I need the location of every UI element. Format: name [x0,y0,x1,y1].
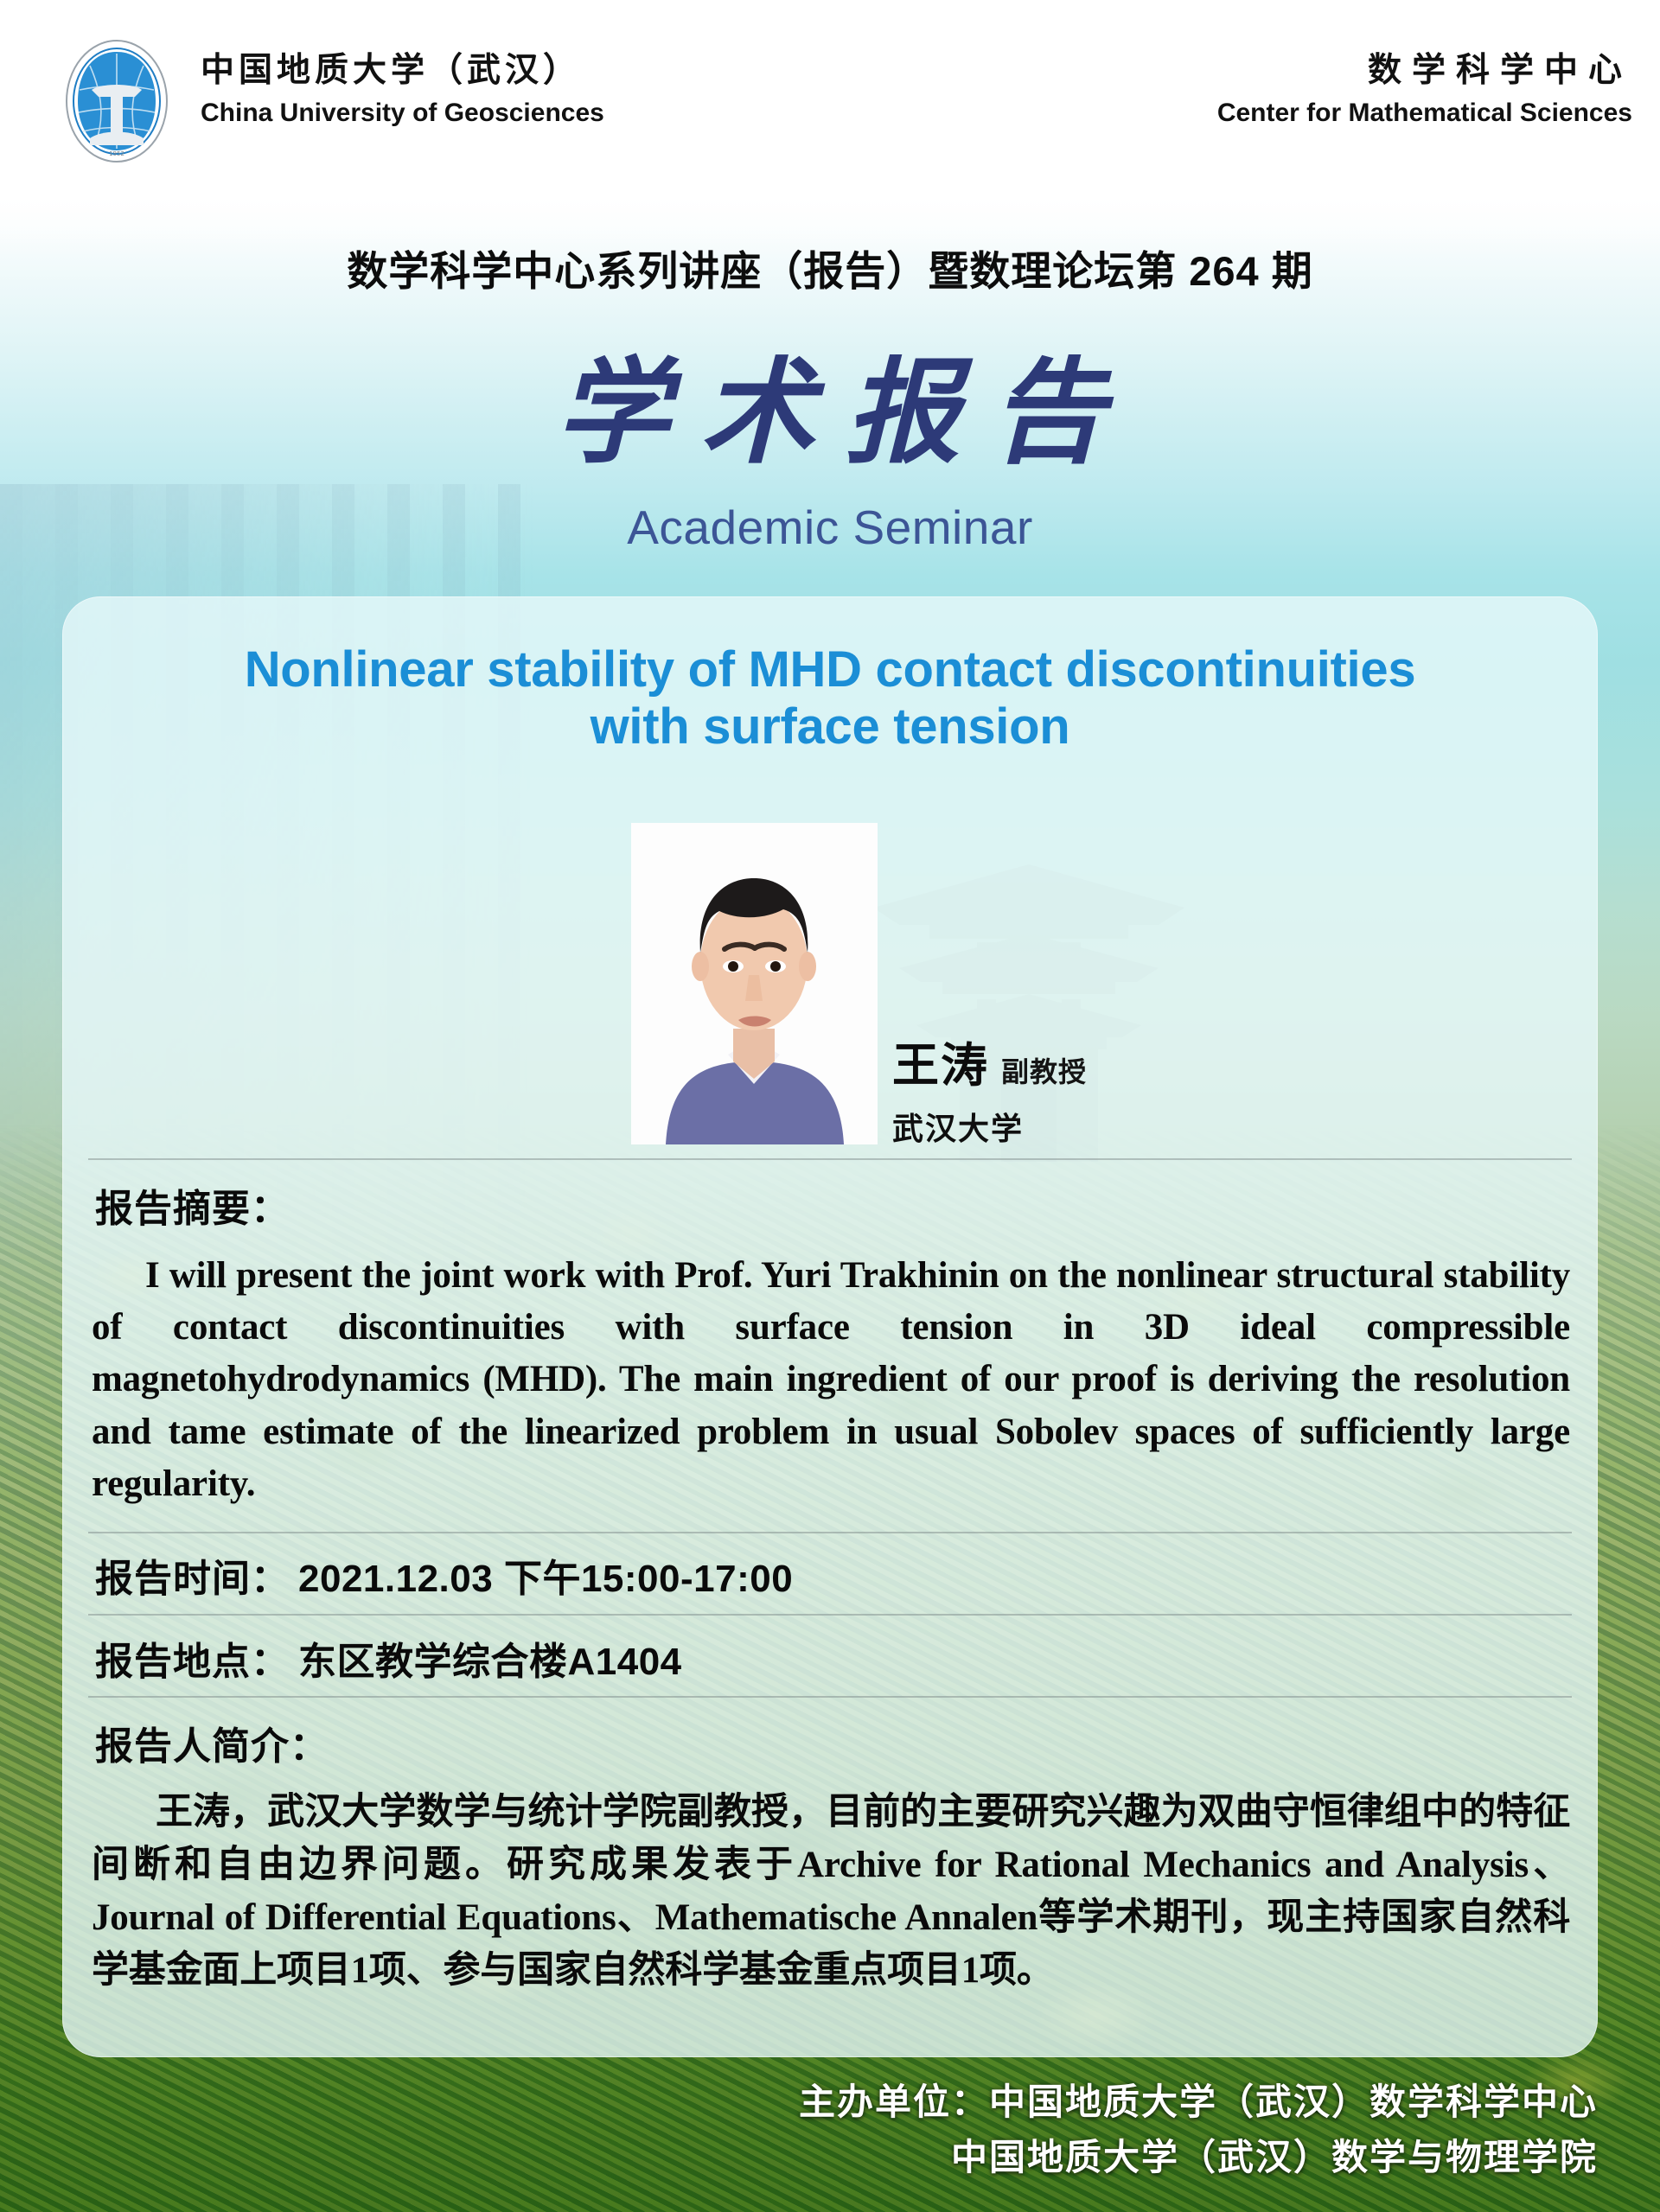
masthead-subtitle-en: Academic Seminar [0,500,1660,555]
bio-text: 王涛，武汉大学数学与统计学院副教授，目前的主要研究兴趣为双曲守恒律组中的特征间断… [92,1786,1570,1997]
poster-header: 1952 中国地质大学（武汉） China University of Geos… [0,0,1660,203]
university-name-cn: 中国地质大学（武汉） [201,50,604,92]
masthead-calligraphy: 学术报告 [0,346,1660,481]
divider-above-time [88,1532,1572,1533]
svg-text:1952: 1952 [109,150,124,157]
speaker-name: 王涛 [892,1027,989,1095]
organizer-line-1: 主办单位：中国地质大学（武汉）数学科学中心 [0,2075,1598,2130]
speaker-affiliation: 武汉大学 [892,1104,1342,1149]
talk-title: Nonlinear stability of MHD contact disco… [97,641,1563,755]
schedule-time-row: 报告时间：2021.12.03 下午15:00-17:00 [95,1547,793,1603]
abstract-label: 报告摘要： [95,1177,290,1233]
university-name-en: China University of Geosciences [201,96,604,130]
organizer-line-2: 中国地质大学（武汉）数学与物理学院 [0,2130,1598,2185]
seminar-poster: 1952 中国地质大学（武汉） China University of Geos… [0,0,1660,2212]
schedule-place-row: 报告地点：东区教学综合楼A1404 [95,1630,682,1686]
speaker-info: 王涛 副教授 武汉大学 [892,1027,1342,1149]
bio-label: 报告人简介： [95,1715,329,1770]
center-identity: 数学科学中心 Center for Mathematical Sciences [1217,50,1632,130]
series-line: 数学科学中心系列讲座（报告）暨数理论坛第 264 期 [0,238,1660,297]
speaker-rank: 副教授 [1001,1050,1087,1090]
talk-title-line-2: with surface tension [97,698,1563,755]
content-card: Nonlinear stability of MHD contact disco… [62,596,1598,2057]
talk-title-line-1: Nonlinear stability of MHD contact disco… [97,641,1563,698]
cug-university-seal-icon: 1952 [52,36,182,166]
divider-above-abstract [88,1158,1572,1160]
university-identity: 中国地质大学（武汉） China University of Geoscienc… [201,50,604,130]
divider-above-bio [88,1696,1572,1698]
schedule-time-value: 2021.12.03 下午15:00-17:00 [298,1558,793,1600]
schedule-place-value: 东区教学综合楼A1404 [298,1641,682,1683]
organizer-footer: 主办单位：中国地质大学（武汉）数学科学中心 中国地质大学（武汉）数学与物理学院 [0,2075,1660,2185]
schedule-time-label: 报告时间： [95,1558,290,1600]
speaker-portrait-photo [631,823,878,1144]
abstract-text: I will present the joint work with Prof.… [92,1250,1570,1510]
center-name-en: Center for Mathematical Sciences [1217,96,1632,130]
schedule-place-label: 报告地点： [95,1641,290,1683]
center-name-cn: 数学科学中心 [1217,50,1632,92]
divider-above-place [88,1614,1572,1616]
